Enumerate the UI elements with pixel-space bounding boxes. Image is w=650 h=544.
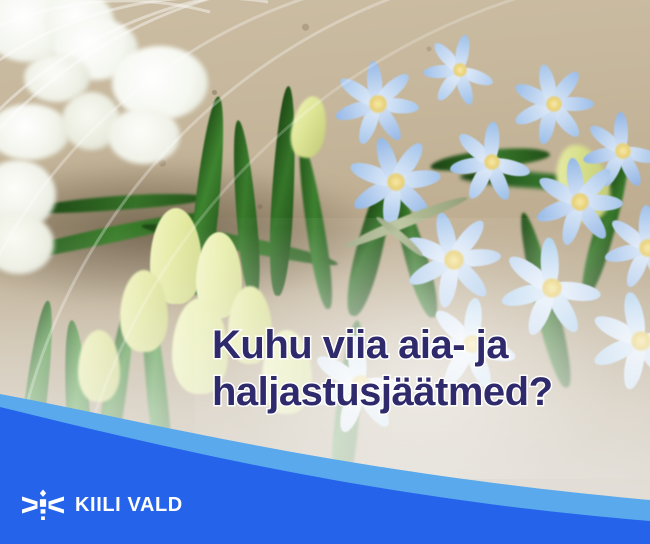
white-hyacinth-bloom — [112, 46, 208, 120]
logo-text: KIILI VALD — [75, 495, 183, 515]
blue-star-flower — [446, 116, 538, 208]
white-hyacinth-bloom — [108, 108, 180, 164]
flower-center — [369, 95, 386, 112]
headline-line-1: Kuhu viia aia- ja — [212, 323, 508, 367]
blue-star-flower — [420, 30, 500, 110]
kiili-vald-dragonfly-icon — [22, 488, 64, 522]
poster-banner: Kuhu viia aia- ja haljastusjäätmed? — [0, 0, 650, 544]
logo[interactable]: KIILI VALD — [22, 488, 183, 522]
flower-center — [571, 193, 589, 211]
